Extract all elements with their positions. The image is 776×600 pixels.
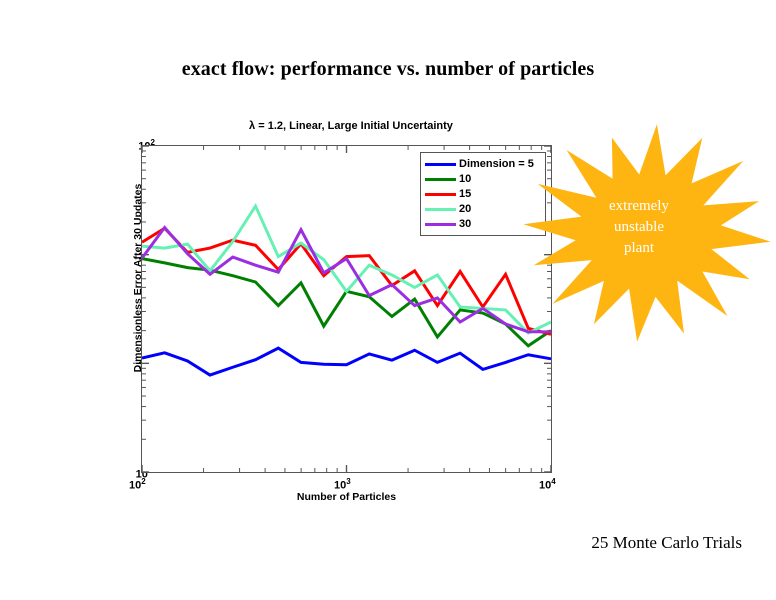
series-line-5: [142, 348, 551, 375]
legend-swatch-10: [425, 178, 456, 181]
callout-line-1: extremely: [573, 196, 705, 217]
callout-line-3: plant: [573, 238, 705, 259]
callout-text: extremely unstable plant: [573, 196, 705, 259]
x-tick-1e2: 102: [129, 477, 146, 492]
legend-label-20: 20: [459, 204, 471, 215]
legend-swatch-5: [425, 163, 456, 166]
callout-starburst: extremely unstable plant: [523, 124, 771, 342]
x-tick-1e4: 104: [539, 477, 556, 492]
legend-label-15: 15: [459, 189, 471, 200]
legend-swatch-20: [425, 208, 456, 211]
x-axis-label: Number of Particles: [141, 491, 552, 503]
legend-label-30: 30: [459, 219, 471, 230]
legend-swatch-15: [425, 193, 456, 196]
x-tick-1e3: 103: [334, 477, 351, 492]
series-line-10: [142, 259, 551, 346]
callout-line-2: unstable: [573, 217, 705, 238]
series-line-15: [142, 228, 551, 334]
slide-canvas: exact flow: performance vs. number of pa…: [0, 0, 776, 600]
legend-swatch-30: [425, 223, 456, 226]
chart-title: λ = 1.2, Linear, Large Initial Uncertain…: [141, 120, 561, 132]
chart-figure: λ = 1.2, Linear, Large Initial Uncertain…: [96, 112, 576, 512]
footnote: 25 Monte Carlo Trials: [591, 533, 742, 553]
legend-label-10: 10: [459, 174, 471, 185]
page-title: exact flow: performance vs. number of pa…: [0, 58, 776, 81]
